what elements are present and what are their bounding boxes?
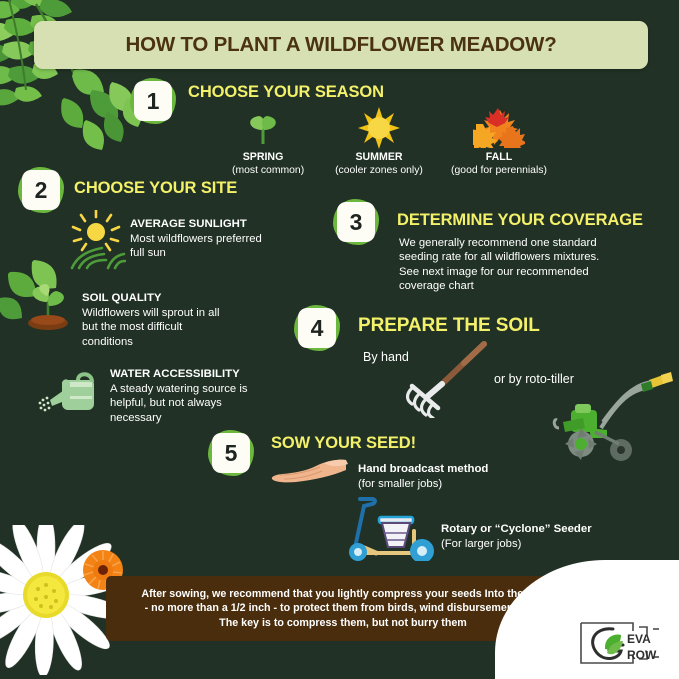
step-badge-1: 1 [130,78,176,124]
badge-number: 5 [225,442,238,465]
badge-card: 2 [22,170,60,210]
season-caption-spring: SPRING (most common) [232,151,294,177]
rake-svg [398,340,508,418]
rotary-seeder-icon [342,495,442,561]
site-item-soil-quality: SOIL QUALITY Wildflowers will sprout in … [82,291,272,349]
roto-tiller-icon [545,366,673,468]
season-note-summer: (cooler zones only) [335,165,423,176]
sow-heading-rotary-seeder: Rotary or “Cyclone” Seeder [441,522,641,537]
season-name-summer: SUMMER [332,151,426,164]
maple-leaves-svg [473,108,525,148]
header-banner: HOW TO PLANT A WILDFLOWER MEADOW? [34,21,648,69]
sun-over-grass-icon [68,210,126,270]
sun-over-grass-svg [68,210,126,270]
step-title-4: PREPARE THE SOIL [358,315,540,337]
sprout-icon [243,110,283,146]
sow-method-rotary-seeder: Rotary or “Cyclone” Seeder (For larger j… [441,522,641,551]
page-title: HOW TO PLANT A WILDFLOWER MEADOW? [125,33,556,57]
season-caption-summer: SUMMER (cooler zones only) [332,151,426,177]
sprout-svg [243,110,283,146]
sow-method-hand-broadcast: Hand broadcast method (for smaller jobs) [358,462,528,491]
site-heading-water-accessibility: WATER ACCESSIBILITY [110,367,305,382]
badge-number: 4 [311,317,324,340]
site-body-soil-quality: Wildflowers will sprout in all but the m… [82,307,219,348]
sow-note-hand-broadcast: (for smaller jobs) [358,478,442,490]
open-hand-svg [270,458,350,488]
open-hand-icon [270,458,350,488]
infographic-canvas: HOW TO PLANT A WILDFLOWER MEADOW? 1 CHOO… [0,0,679,679]
season-name-fall: FALL [443,151,555,164]
step-badge-3: 3 [333,199,379,245]
badge-number: 2 [35,179,48,202]
closing-note-text: After sowing, we recommend that you ligh… [129,587,556,630]
step-badge-2: 2 [18,167,64,213]
maple-leaves-icon [473,108,525,148]
site-body-water-accessibility: A steady watering source is helpful, but… [110,383,248,424]
sow-note-rotary-seeder: (For larger jobs) [441,538,521,550]
site-heading-soil-quality: SOIL QUALITY [82,291,272,306]
season-caption-fall: FALL (good for perennials) [443,151,555,177]
badge-card: 3 [337,202,375,242]
step-body-3: We generally recommend one standard seed… [399,236,649,294]
seedling-in-soil-icon [20,282,76,330]
rotary-seeder-svg [342,495,442,561]
badge-number: 1 [147,90,160,113]
site-item-water-accessibility: WATER ACCESSIBILITY A steady watering so… [110,367,305,425]
watering-can-icon [34,370,100,416]
badge-card: 5 [212,433,250,473]
badge-card: 4 [298,308,336,348]
logo-svg: EVA ROW [575,617,667,669]
watering-can-svg [34,370,100,416]
sun-icon [357,107,401,149]
step-badge-4: 4 [294,305,340,351]
step-badge-5: 5 [208,430,254,476]
white-daisy-flower [0,525,120,675]
logo-text-row: ROW [627,648,657,662]
step-title-3: DETERMINE YOUR COVERAGE [397,211,643,230]
daisy-svg [0,525,120,675]
badge-number: 3 [350,211,363,234]
sow-heading-hand-broadcast: Hand broadcast method [358,462,528,477]
site-body-average-sunlight: Most wildflowers preferred full sun [130,233,262,259]
step-title-5: SOW YOUR SEED! [271,434,416,453]
badge-card: 1 [134,81,172,121]
season-note-fall: (good for perennials) [451,165,547,176]
sun-svg [357,107,401,149]
site-item-average-sunlight: AVERAGE SUNLIGHT Most wildflowers prefer… [130,217,310,261]
step-title-1: CHOOSE YOUR SEASON [188,83,384,102]
roto-tiller-svg [545,366,673,468]
step-title-2: CHOOSE YOUR SITE [74,179,237,198]
rake-icon [398,340,508,418]
site-heading-average-sunlight: AVERAGE SUNLIGHT [130,217,310,232]
eva-grow-logo: EVA ROW [575,617,667,669]
logo-text-eva: EVA [627,632,651,646]
season-note-spring: (most common) [232,165,304,176]
seedling-soil-svg [20,282,76,330]
season-name-spring: SPRING [232,151,294,164]
